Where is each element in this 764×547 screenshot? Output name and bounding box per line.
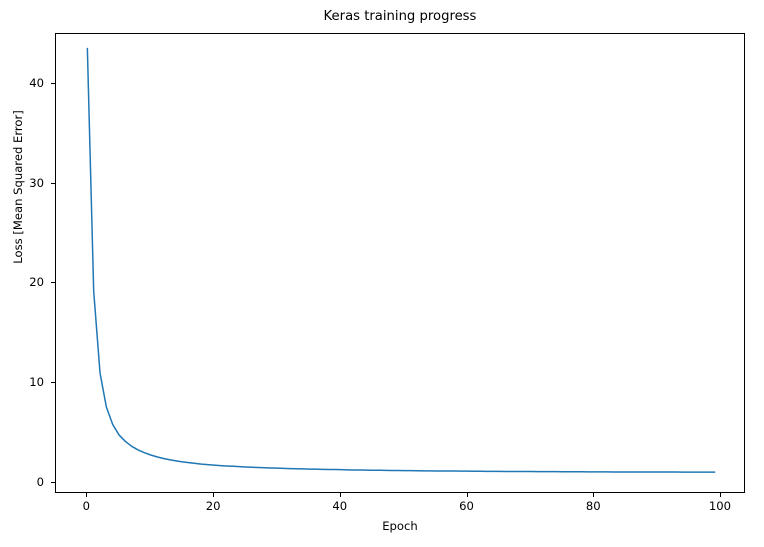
y-tick-mark bbox=[51, 183, 55, 184]
x-tick-label: 60 bbox=[437, 499, 497, 513]
y-tick-mark bbox=[51, 382, 55, 383]
y-tick-mark bbox=[51, 83, 55, 84]
y-tick-mark bbox=[51, 482, 55, 483]
x-tick-mark bbox=[720, 493, 721, 497]
x-tick-label: 40 bbox=[310, 499, 370, 513]
x-tick-mark bbox=[86, 493, 87, 497]
x-axis-label: Epoch bbox=[55, 519, 745, 533]
chart-title: Keras training progress bbox=[55, 9, 745, 25]
matplotlib-figure: Keras training progress 020406080100 010… bbox=[0, 0, 764, 547]
plot-axes bbox=[55, 33, 745, 493]
y-tick-mark bbox=[51, 282, 55, 283]
x-tick-mark bbox=[467, 493, 468, 497]
y-tick-label: 0 bbox=[0, 475, 44, 489]
x-tick-label: 100 bbox=[690, 499, 750, 513]
y-tick-label: 10 bbox=[0, 375, 44, 389]
x-tick-label: 80 bbox=[563, 499, 623, 513]
x-tick-label: 20 bbox=[183, 499, 243, 513]
loss-line bbox=[87, 48, 714, 472]
x-tick-mark bbox=[213, 493, 214, 497]
x-tick-label: 0 bbox=[56, 499, 116, 513]
loss-curve-svg bbox=[56, 34, 746, 494]
y-axis-label: Loss [Mean Squared Error] bbox=[11, 87, 25, 287]
x-tick-mark bbox=[340, 493, 341, 497]
x-tick-mark bbox=[593, 493, 594, 497]
